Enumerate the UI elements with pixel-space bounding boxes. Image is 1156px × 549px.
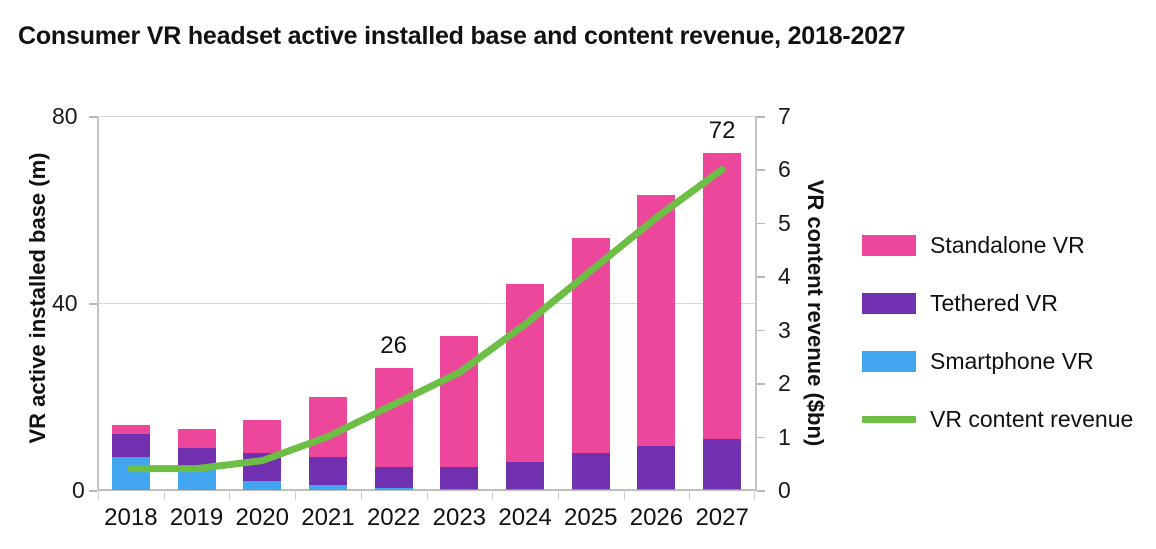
- category-tick: [229, 490, 230, 500]
- right-axis-tick-7: 7: [778, 105, 791, 128]
- category-tick: [361, 490, 362, 500]
- legend-item-standalone-vr[interactable]: Standalone VR: [862, 216, 1152, 274]
- plot-area: [98, 116, 755, 490]
- bar-segment-tethered-vr[interactable]: [178, 448, 216, 467]
- legend-label: Tethered VR: [930, 290, 1058, 317]
- gridline-80: [98, 116, 755, 117]
- bar-segment-standalone-vr[interactable]: [572, 238, 610, 453]
- bar-segment-standalone-vr[interactable]: [637, 195, 675, 445]
- right-axis-tick-2: 2: [778, 372, 791, 395]
- bar-segment-smartphone-vr[interactable]: [703, 489, 741, 490]
- left-tick-mark-80: [89, 116, 97, 118]
- right-axis-spine: [755, 116, 757, 491]
- bar-segment-tethered-vr[interactable]: [637, 446, 675, 489]
- right-axis-tick-3: 3: [778, 319, 791, 342]
- right-tick-mark-5: [757, 223, 765, 225]
- left-axis-tick-40: 40: [52, 292, 78, 315]
- bar-segment-tethered-vr[interactable]: [572, 453, 610, 489]
- bar-segment-standalone-vr[interactable]: [440, 336, 478, 467]
- chart-title: Consumer VR headset active installed bas…: [18, 22, 905, 51]
- bar-segment-tethered-vr[interactable]: [112, 434, 150, 457]
- right-axis-title: VR content revenue ($bn): [802, 123, 828, 503]
- right-tick-mark-6: [757, 169, 765, 171]
- right-tick-mark-2: [757, 383, 765, 385]
- bar-segment-smartphone-vr[interactable]: [309, 485, 347, 490]
- legend-item-vr-content-revenue[interactable]: VR content revenue: [862, 390, 1152, 448]
- bar-segment-standalone-vr[interactable]: [309, 397, 347, 458]
- category-tick: [558, 490, 559, 500]
- bar-segment-standalone-vr[interactable]: [243, 420, 281, 453]
- left-tick-mark-40: [89, 303, 97, 305]
- category-tick: [689, 490, 690, 500]
- bar-segment-standalone-vr[interactable]: [375, 368, 413, 466]
- legend-swatch-icon: [862, 351, 916, 372]
- bar-group[interactable]: [506, 284, 544, 490]
- bar-segment-tethered-vr[interactable]: [243, 453, 281, 481]
- category-tick: [754, 490, 755, 500]
- category-tick: [492, 490, 493, 500]
- bar-segment-tethered-vr[interactable]: [440, 467, 478, 489]
- bar-segment-tethered-vr[interactable]: [703, 439, 741, 489]
- data-label-2027: 72: [682, 117, 762, 145]
- legend-item-tethered-vr[interactable]: Tethered VR: [862, 274, 1152, 332]
- category-tick: [624, 490, 625, 500]
- bar-segment-smartphone-vr[interactable]: [243, 481, 281, 490]
- bar-segment-smartphone-vr[interactable]: [440, 489, 478, 490]
- bar-segment-standalone-vr[interactable]: [506, 284, 544, 462]
- right-axis-tick-1: 1: [778, 426, 791, 449]
- bar-group[interactable]: [440, 336, 478, 490]
- category-tick: [164, 490, 165, 500]
- legend-label: Smartphone VR: [930, 348, 1094, 375]
- right-tick-mark-3: [757, 330, 765, 332]
- bar-segment-standalone-vr[interactable]: [703, 153, 741, 438]
- category-tick: [295, 490, 296, 500]
- legend-swatch-icon: [862, 235, 916, 256]
- bar-segment-smartphone-vr[interactable]: [572, 489, 610, 490]
- left-tick-mark-0: [89, 490, 97, 492]
- left-axis-tick-80: 80: [52, 105, 78, 128]
- chart-legend: Standalone VRTethered VRSmartphone VRVR …: [862, 216, 1152, 448]
- left-axis-tick-0: 0: [72, 479, 85, 502]
- legend-line-icon: [862, 416, 916, 423]
- right-axis-tick-6: 6: [778, 158, 791, 181]
- chart-root: Consumer VR headset active installed bas…: [0, 0, 1156, 549]
- bar-segment-smartphone-vr[interactable]: [506, 489, 544, 490]
- bar-group[interactable]: [375, 368, 413, 490]
- right-axis-tick-4: 4: [778, 265, 791, 288]
- bar-group[interactable]: [243, 420, 281, 490]
- data-label-2022: 26: [354, 332, 434, 360]
- right-tick-mark-0: [757, 490, 765, 492]
- bar-segment-tethered-vr[interactable]: [375, 467, 413, 488]
- legend-swatch-icon: [862, 293, 916, 314]
- category-tick: [427, 490, 428, 500]
- bar-segment-standalone-vr[interactable]: [178, 429, 216, 448]
- bar-group[interactable]: [178, 429, 216, 490]
- bar-segment-smartphone-vr[interactable]: [178, 467, 216, 490]
- bar-group[interactable]: [309, 397, 347, 491]
- right-tick-mark-4: [757, 276, 765, 278]
- bar-group[interactable]: [572, 238, 610, 490]
- bar-segment-standalone-vr[interactable]: [112, 425, 150, 434]
- left-axis-title: VR active installed base (m): [25, 108, 51, 488]
- bar-segment-smartphone-vr[interactable]: [637, 489, 675, 490]
- bar-segment-smartphone-vr[interactable]: [375, 488, 413, 490]
- right-axis-tick-0: 0: [778, 479, 791, 502]
- legend-label: VR content revenue: [930, 406, 1133, 433]
- bar-group[interactable]: [637, 195, 675, 490]
- x-axis-labels: 2018201920202021202220232024202520262027: [98, 504, 755, 538]
- legend-item-smartphone-vr[interactable]: Smartphone VR: [862, 332, 1152, 390]
- bar-segment-tethered-vr[interactable]: [506, 462, 544, 489]
- right-axis-tick-5: 5: [778, 212, 791, 235]
- category-tick: [98, 490, 99, 500]
- bar-segment-tethered-vr[interactable]: [309, 457, 347, 485]
- right-tick-mark-1: [757, 437, 765, 439]
- revenue-line-path: [131, 169, 722, 468]
- bar-segment-smartphone-vr[interactable]: [112, 457, 150, 490]
- x-axis-label-2027: 2027: [682, 504, 762, 532]
- legend-label: Standalone VR: [930, 232, 1085, 259]
- bar-group[interactable]: [703, 153, 741, 490]
- bar-group[interactable]: [112, 425, 150, 490]
